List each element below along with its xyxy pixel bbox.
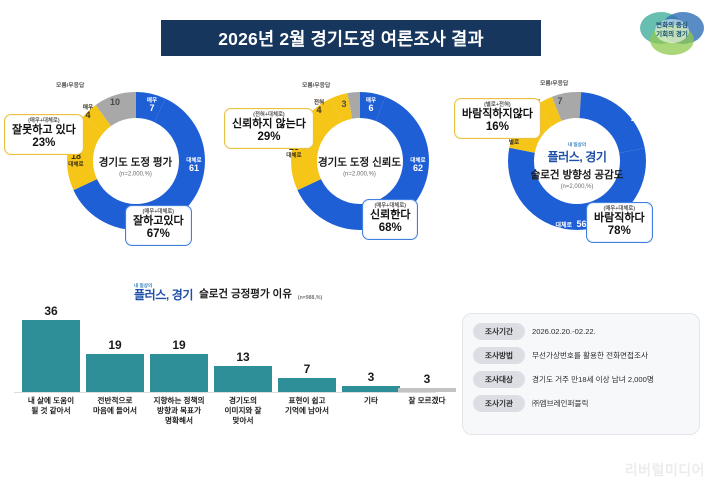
info-key-agency: 조사기관 bbox=[473, 395, 525, 412]
info-key-method: 조사방법 bbox=[473, 347, 525, 364]
brand-badge-line2: 기회의 경기 bbox=[656, 31, 688, 38]
page-title-text: 2026년 2월 경기도정 여론조사 결과 bbox=[218, 26, 484, 51]
donut2-callout-positive: (매우+대체로) 신뢰한다 68% bbox=[362, 199, 418, 240]
bar-4-rect bbox=[278, 378, 336, 392]
bar-0-value: 36 bbox=[22, 304, 80, 318]
info-row-period: 조사기간 2026.02.20.-02.22. bbox=[473, 323, 689, 340]
bar-chart-slogan-reasons: 내 일상의 플러스, 경기 슬로건 긍정평가 이유 (n=988,%) 36 1… bbox=[14, 284, 444, 434]
info-key-period: 조사기간 bbox=[473, 323, 525, 340]
bar-chart-plot-area: 36 19 19 13 7 3 3 bbox=[14, 312, 444, 392]
bar-5-value: 3 bbox=[342, 370, 400, 384]
info-row-target: 조사대상 경기도 거주 만18세 이상 남녀 2,000명 bbox=[473, 371, 689, 388]
info-row-agency: 조사기관 ㈜엠브레인퍼블릭 bbox=[473, 395, 689, 412]
donut3-callout-negative: (별로+전혀) 바람직하지않다 16% bbox=[454, 98, 541, 139]
info-value-agency: ㈜엠브레인퍼블릭 bbox=[532, 398, 589, 409]
bar-chart-title: 슬로건 긍정평가 이유 bbox=[199, 289, 292, 301]
bar-4-value: 7 bbox=[278, 362, 336, 376]
donut-chart-governance-evaluation: 모름/무응답 매우 7 대체로 61 18 대체로 매우 4 10 경기도 도정… bbox=[28, 86, 243, 246]
donut-chart-governance-trust: 모름/무응답 매우 6 대체로 62 25 대체로 전혀 4 3 경기도 도정 … bbox=[252, 86, 467, 246]
bar-chart-note: (n=988,%) bbox=[298, 295, 322, 301]
bar-1-rect bbox=[86, 354, 144, 392]
bar-0: 36 bbox=[22, 320, 80, 392]
bar-chart-header: 내 일상의 플러스, 경기 슬로건 긍정평가 이유 (n=988,%) bbox=[134, 284, 322, 301]
watermark: 리버럴미디어 bbox=[625, 460, 705, 480]
donut3-callout-positive: (매우+대체로) 바람직하다 78% bbox=[586, 202, 653, 243]
header-band: 2026년 2월 경기도정 여론조사 결과 변화의 중심 기회의 경기 bbox=[0, 0, 719, 70]
bar-2-value: 19 bbox=[150, 338, 208, 352]
gyeonggi-brand-badge: 변화의 중심 기회의 경기 bbox=[633, 6, 711, 60]
bar-label-1: 전반적으로마음에 들어서 bbox=[80, 396, 150, 416]
bar-label-6: 잘 모르겠다 bbox=[392, 396, 462, 406]
bar-chart-baseline bbox=[14, 392, 436, 393]
bar-label-2: 지향하는 정책의방향과 목표가명확해서 bbox=[144, 396, 214, 426]
donut1-callout-negative: (매우+대체로) 잘못하고 있다 23% bbox=[4, 114, 84, 155]
bar-2: 19 bbox=[150, 354, 208, 392]
info-row-method: 조사방법 무선가상번호를 활용한 전화면접조사 bbox=[473, 347, 689, 364]
donut2-callout-negative: (전혀+대체로) 신뢰하지 않는다 29% bbox=[224, 108, 314, 149]
donut2-top-label: 모름/무응답 bbox=[302, 80, 330, 89]
info-value-target: 경기도 거주 만18세 이상 남녀 2,000명 bbox=[532, 374, 654, 385]
donut1-top-label: 모름/무응답 bbox=[56, 80, 84, 89]
bar-1: 19 bbox=[86, 354, 144, 392]
brand-badge-line1: 변화의 중심 bbox=[656, 22, 688, 29]
bar-3-rect bbox=[214, 366, 272, 392]
bar-1-value: 19 bbox=[86, 338, 144, 352]
donut3-top-label: 모름/무응답 bbox=[540, 78, 568, 87]
donut1-callout-positive: (매우+대체로) 잘하고있다 67% bbox=[125, 205, 192, 246]
bar-chart-logo-text: 플러스, 경기 bbox=[134, 288, 193, 302]
info-value-method: 무선가상번호를 활용한 전화면접조사 bbox=[532, 350, 648, 361]
info-value-period: 2026.02.20.-02.22. bbox=[532, 327, 596, 336]
survey-info-table: 조사기간 2026.02.20.-02.22. 조사방법 무선가상번호를 활용한… bbox=[462, 313, 700, 435]
donut-chart-slogan-empathy: 모름/무응답 매우 22 대체로 56 12 별로 전혀 4 7 내 일상의 플… bbox=[462, 86, 692, 246]
bar-3-value: 13 bbox=[214, 350, 272, 364]
bar-label-0: 내 살에 도움이될 것 같아서 bbox=[16, 396, 86, 416]
brand-badge-text: 변화의 중심 기회의 경기 bbox=[633, 22, 711, 40]
bar-2-rect bbox=[150, 354, 208, 392]
bar-6-value: 3 bbox=[398, 372, 456, 386]
info-key-target: 조사대상 bbox=[473, 371, 525, 388]
page-title: 2026년 2월 경기도정 여론조사 결과 bbox=[161, 20, 541, 56]
bar-0-rect bbox=[22, 320, 80, 392]
bar-4: 7 bbox=[278, 378, 336, 392]
bar-label-4: 표현이 쉽고기억에 남아서 bbox=[272, 396, 342, 416]
bar-3: 13 bbox=[214, 366, 272, 392]
bar-label-3: 경기도의이미지와 잘맞아서 bbox=[208, 396, 278, 426]
bar-chart-logo: 내 일상의 플러스, 경기 bbox=[134, 284, 193, 301]
